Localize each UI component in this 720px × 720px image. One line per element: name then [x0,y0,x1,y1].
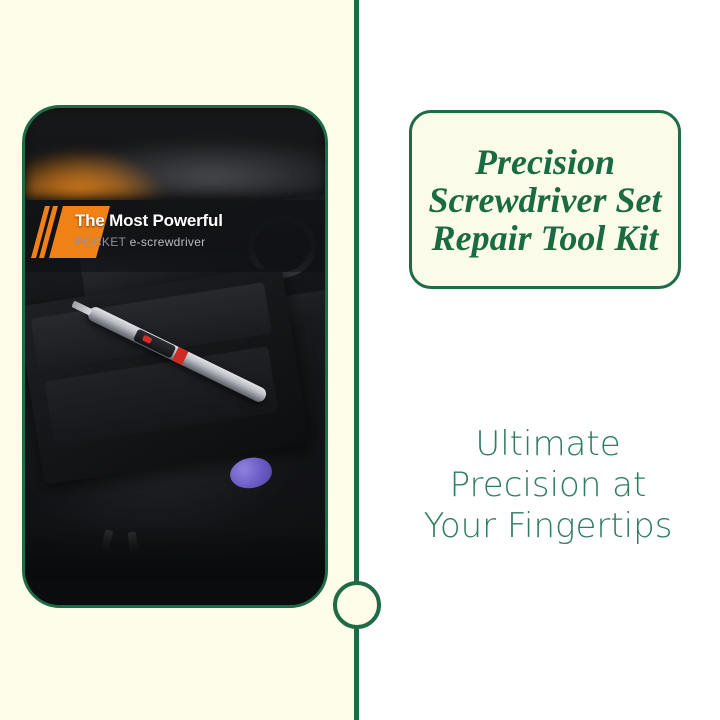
promo-poster: The Most Powerful POCKET e-screwdriver P… [0,0,720,720]
banner-text-group: The Most Powerful POCKET e-screwdriver [75,210,223,250]
tagline-text: Ultimate Precision at Your Fingertips [409,424,687,547]
banner-title: The Most Powerful [75,210,223,232]
photo-blurred-top-strip [25,108,325,204]
banner-subtitle: POCKET e-screwdriver [75,234,223,250]
right-panel-background [357,0,720,720]
banner-brand-label: POCKET [75,235,126,249]
headline-box: Precision Screwdriver Set Repair Tool Ki… [409,110,681,289]
foam-case-tray-shape [22,265,309,485]
photo-bottom-fade [25,525,325,608]
banner-product-label: e-screwdriver [126,235,206,249]
purple-accessory-shape [227,454,274,492]
divider-circle-icon [333,581,381,629]
photo-banner-overlay: The Most Powerful POCKET e-screwdriver [25,200,325,272]
product-image-card[interactable]: The Most Powerful POCKET e-screwdriver [22,105,328,608]
page-title: Precision Screwdriver Set Repair Tool Ki… [412,143,678,257]
